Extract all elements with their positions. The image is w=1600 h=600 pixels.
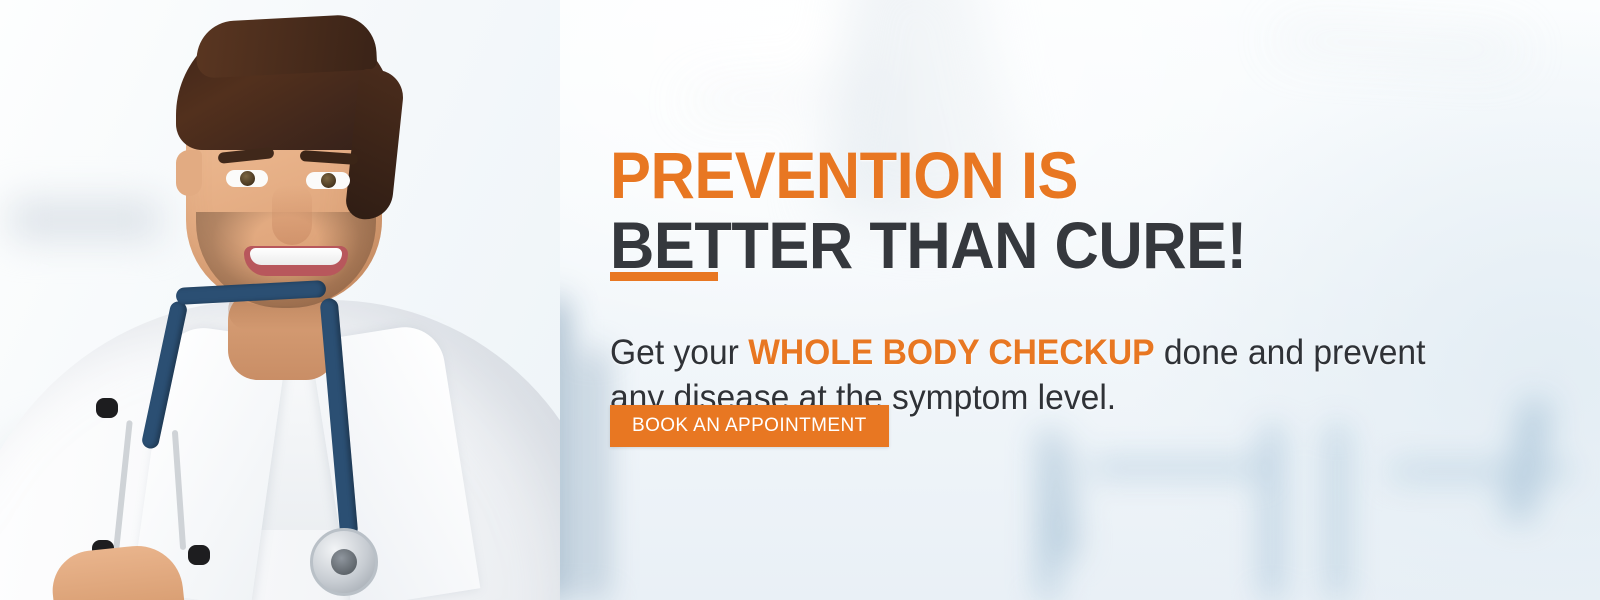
subheading-before: Get your [610, 333, 748, 372]
subheading-highlight: WHOLE BODY CHECKUP [748, 333, 1154, 372]
stethoscope-chestpiece [310, 528, 378, 596]
stethoscope-eartube-left [113, 420, 133, 550]
headline-line-2: BETTER THAN CURE! [610, 212, 1247, 278]
headline-line-1: PREVENTION IS [610, 142, 1247, 208]
stethoscope-tube-collar [176, 280, 327, 305]
doctor-photo [0, 0, 560, 600]
book-appointment-button[interactable]: BOOK AN APPOINTMENT [610, 405, 889, 447]
banner-copy: PREVENTION IS BETTER THAN CURE! Get your… [610, 0, 1510, 600]
stethoscope-tube-right [320, 298, 359, 539]
bg-shape-dark-pole-2 [586, 350, 604, 600]
stethoscope-earpiece-right-end [188, 545, 210, 565]
headline: PREVENTION IS BETTER THAN CURE! [610, 142, 1294, 278]
stethoscope-eartube-right [172, 430, 186, 550]
accent-divider [610, 272, 718, 281]
chestpiece-center [331, 549, 357, 575]
stethoscope [0, 0, 560, 600]
stethoscope-earpiece-left [96, 398, 118, 418]
healthcare-promo-banner: PREVENTION IS BETTER THAN CURE! Get your… [0, 0, 1600, 600]
stethoscope-tube-left [141, 300, 189, 450]
